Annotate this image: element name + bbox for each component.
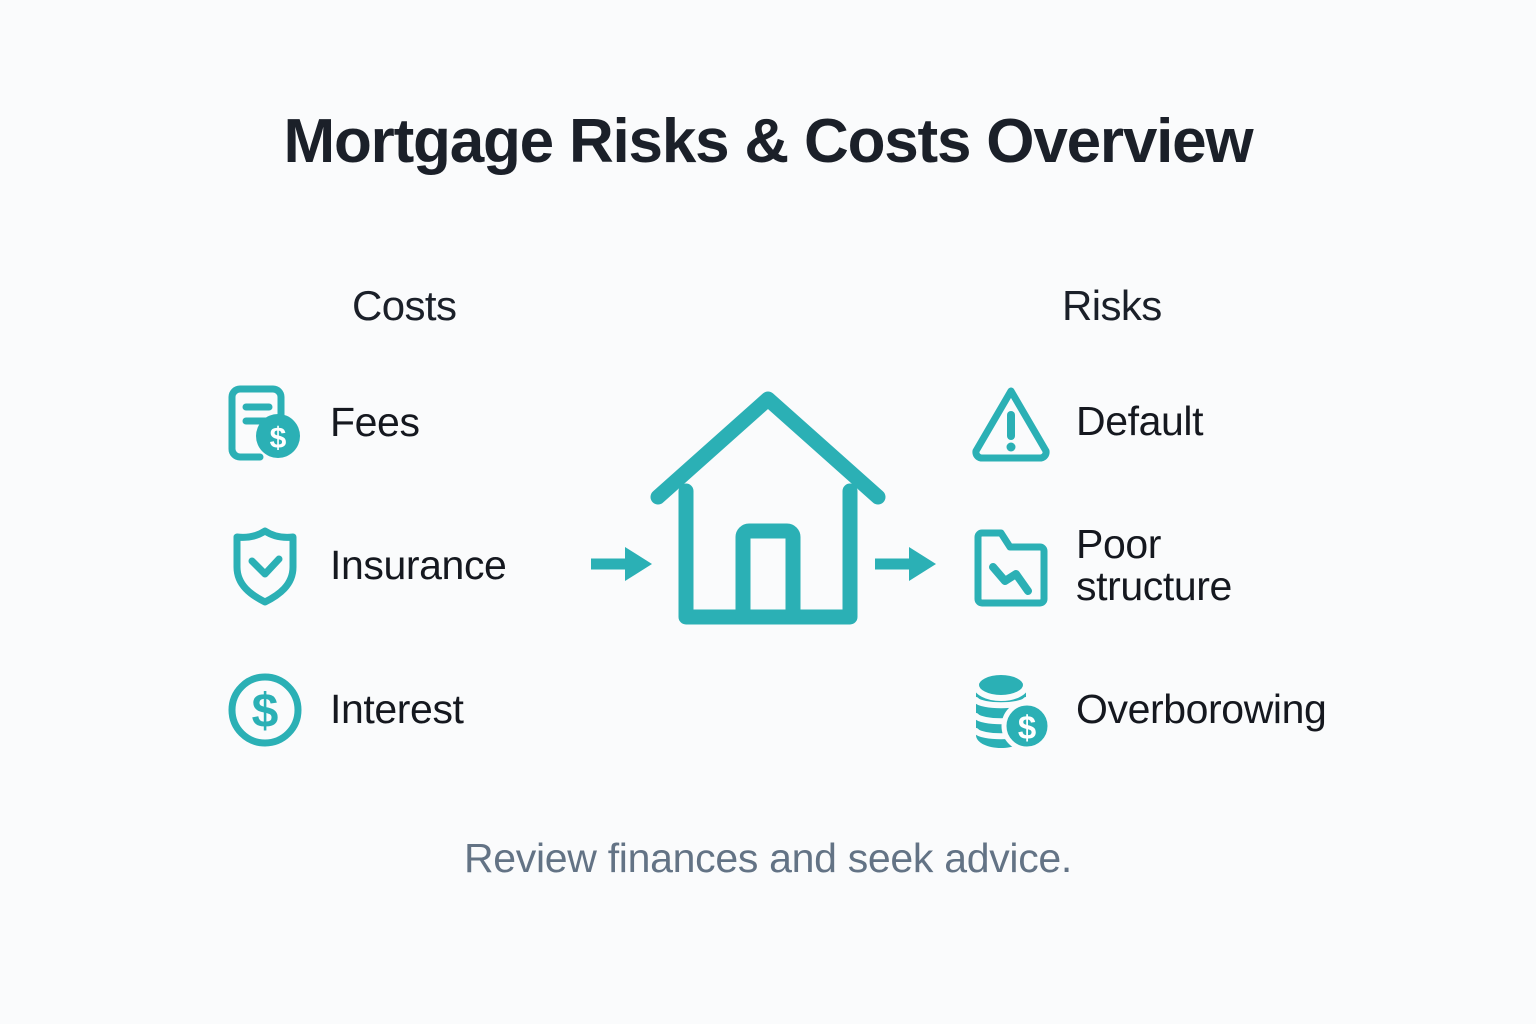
list-item-overborowing: $ Overborowing [968, 667, 1326, 753]
house-icon [640, 385, 896, 633]
list-item-label: Overborowing [1076, 689, 1326, 731]
svg-text:$: $ [1018, 709, 1036, 746]
infographic-canvas: Mortgage Risks & Costs Overview Costs Ri… [0, 0, 1536, 1024]
folder-declining-chart-icon [968, 523, 1054, 609]
invoice-dollar-icon: $ [222, 380, 308, 466]
list-item-label: Interest [330, 689, 464, 731]
shield-check-icon [222, 523, 308, 609]
svg-text:$: $ [270, 422, 287, 455]
list-item-fees: $ Fees [222, 380, 420, 466]
list-item-label: Poor structure [1076, 524, 1232, 608]
dollar-circle-icon: $ [222, 667, 308, 753]
list-item-default: Default [968, 379, 1203, 465]
footer-note: Review finances and seek advice. [0, 838, 1536, 879]
list-item-interest: $ Interest [222, 667, 464, 753]
list-item-label: Default [1076, 401, 1203, 443]
column-heading-risks: Risks [1062, 285, 1162, 327]
coin-stack-dollar-icon: $ [968, 667, 1054, 753]
arrow-right-icon-out [873, 542, 939, 586]
list-item-label: Insurance [330, 545, 506, 587]
list-item-insurance: Insurance [222, 523, 506, 609]
svg-text:$: $ [252, 685, 279, 738]
warning-triangle-icon [968, 379, 1054, 465]
page-title: Mortgage Risks & Costs Overview [0, 111, 1536, 173]
column-heading-costs: Costs [352, 285, 456, 327]
list-item-poor-structure: Poor structure [968, 523, 1232, 609]
list-item-label: Fees [330, 402, 420, 444]
